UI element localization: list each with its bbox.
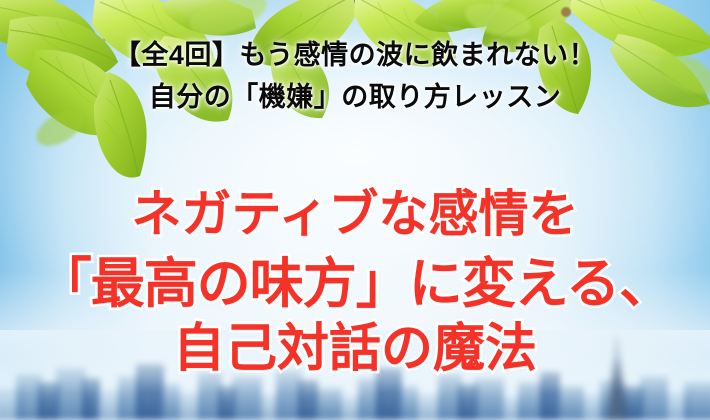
headline-line-1: ネガティブな感情を <box>0 174 710 246</box>
headline-line-3: 自己対話の魔法 <box>0 306 710 381</box>
subtitle-line-2: 自分の「機嫌」の取り方レッスン <box>0 83 710 111</box>
course-banner-image: 【全4回】もう感情の波に飲まれない！ 自分の「機嫌」の取り方レッスン ネガティブ… <box>0 0 710 420</box>
subtitle-line-1: 【全4回】もう感情の波に飲まれない！ <box>0 41 710 69</box>
